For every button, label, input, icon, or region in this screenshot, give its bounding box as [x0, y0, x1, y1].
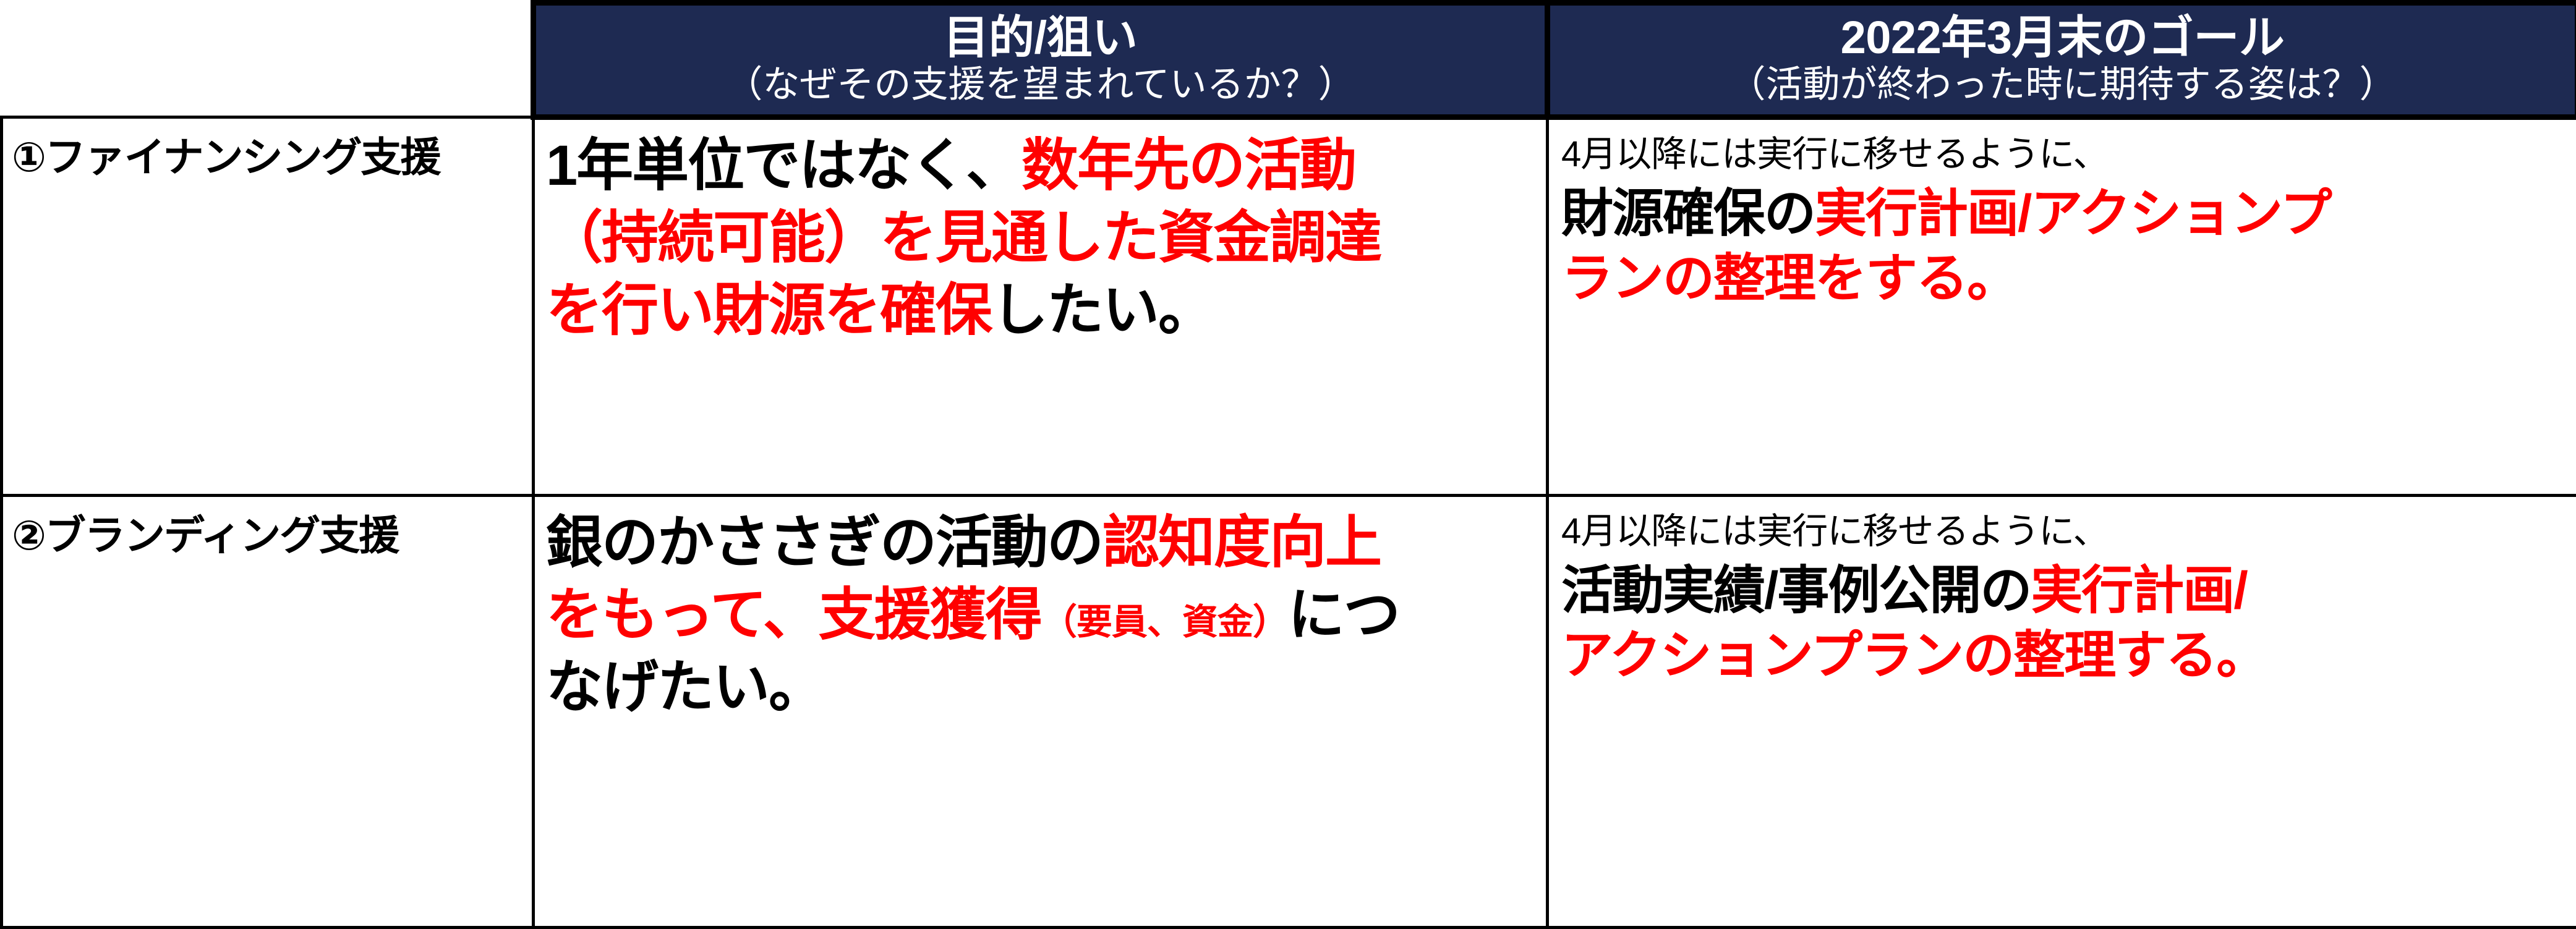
- aim-cell-financing: 1年単位ではなく、数年先の活動 （持続可能）を見通した資金調達 を行い財源を確保…: [534, 117, 1548, 496]
- table-row: ①ファイナンシング支援 1年単位ではなく、数年先の活動 （持続可能）を見通した資…: [2, 117, 2576, 496]
- goal-text-branding: 活動実績/事例公開の実行計画/ アクションプランの整理する。: [1561, 558, 2570, 689]
- aim-r2-line1-black: 銀のかささぎの活動の: [546, 511, 1102, 574]
- table-header-row: 目的/狙い （なぜその支援を望まれているか？） 2022年3月末のゴール （活動…: [2, 3, 2576, 117]
- header-cell-aim: 目的/狙い （なぜその支援を望まれているか？）: [534, 3, 1548, 117]
- aim-text-financing: 1年単位ではなく、数年先の活動 （持続可能）を見通した資金調達 を行い財源を確保…: [546, 130, 1536, 346]
- aim-r1-line1-black: 1年単位ではなく、: [546, 134, 1021, 197]
- aim-r1-line1-red: 数年先の活動: [1021, 134, 1355, 197]
- aim-r1-line3-red: を行い財源を確保: [546, 279, 991, 342]
- goal-text-financing: 財源確保の実行計画/アクションプ ランの整理をする。: [1561, 181, 2570, 312]
- aim-r2-line2-red-small: （要員、資金）: [1041, 602, 1288, 642]
- header-aim-subtitle: （なぜその支援を望まれているか？）: [547, 63, 1533, 106]
- goal-cell-branding: 4月以降には実行に移せるように、 活動実績/事例公開の実行計画/ アクションプラ…: [1548, 496, 2576, 928]
- row-label-cell-branding: ②ブランディング支援: [2, 496, 534, 928]
- header-corner-blank: [2, 3, 534, 117]
- goal-cell-financing: 4月以降には実行に移せるように、 財源確保の実行計画/アクションプ ランの整理を…: [1548, 117, 2576, 496]
- goal-r2-line1-red: 実行計画/: [2031, 561, 2246, 619]
- aim-r2-line2-red: をもって、支援獲得: [546, 583, 1041, 647]
- header-goal-subtitle: （活動が終わった時に期待する姿は？）: [1561, 63, 2564, 106]
- aim-r2-line1-red: 認知度向上: [1102, 511, 1381, 574]
- aim-r2-line2-black: につ: [1288, 583, 1399, 647]
- header-aim-title: 目的/狙い: [547, 14, 1533, 61]
- goal-r2-line2-red: アクションプランの整理する。: [1561, 626, 2267, 684]
- aim-cell-branding: 銀のかささぎの活動の認知度向上 をもって、支援獲得（要員、資金）につ なげたい。: [534, 496, 1548, 928]
- row-label-text: ①ファイナンシング支援: [12, 135, 526, 180]
- header-goal-title: 2022年3月末のゴール: [1561, 14, 2564, 61]
- aim-r1-line3-black: したい。: [991, 279, 1214, 342]
- objectives-goals-table: 目的/狙い （なぜその支援を望まれているか？） 2022年3月末のゴール （活動…: [0, 0, 2576, 929]
- row-label-text: ②ブランディング支援: [12, 513, 526, 558]
- goal-table-container: 目的/狙い （なぜその支援を望まれているか？） 2022年3月末のゴール （活動…: [0, 0, 2576, 925]
- goal-r1-line1-black: 財源確保の: [1561, 184, 1815, 242]
- goal-r1-line1-red: 実行計画/アクションプ: [1815, 184, 2331, 242]
- aim-r2-line3-black: なげたい。: [546, 656, 824, 719]
- header-cell-goal: 2022年3月末のゴール （活動が終わった時に期待する姿は？）: [1548, 3, 2576, 117]
- row-label-cell-financing: ①ファイナンシング支援: [2, 117, 534, 496]
- table-row: ②ブランディング支援 銀のかささぎの活動の認知度向上 をもって、支援獲得（要員、…: [2, 496, 2576, 928]
- goal-r2-lead: 4月以降には実行に移せるように、: [1561, 509, 2570, 554]
- goal-r2-line1-black: 活動実績/事例公開の: [1561, 561, 2031, 619]
- aim-r1-line2-red: （持続可能）を見通した資金調達: [546, 206, 1381, 269]
- goal-r1-line2-red: ランの整理をする。: [1561, 249, 2018, 307]
- goal-r1-lead: 4月以降には実行に移せるように、: [1561, 132, 2570, 177]
- aim-text-branding: 銀のかささぎの活動の認知度向上 をもって、支援獲得（要員、資金）につ なげたい。: [546, 507, 1536, 723]
